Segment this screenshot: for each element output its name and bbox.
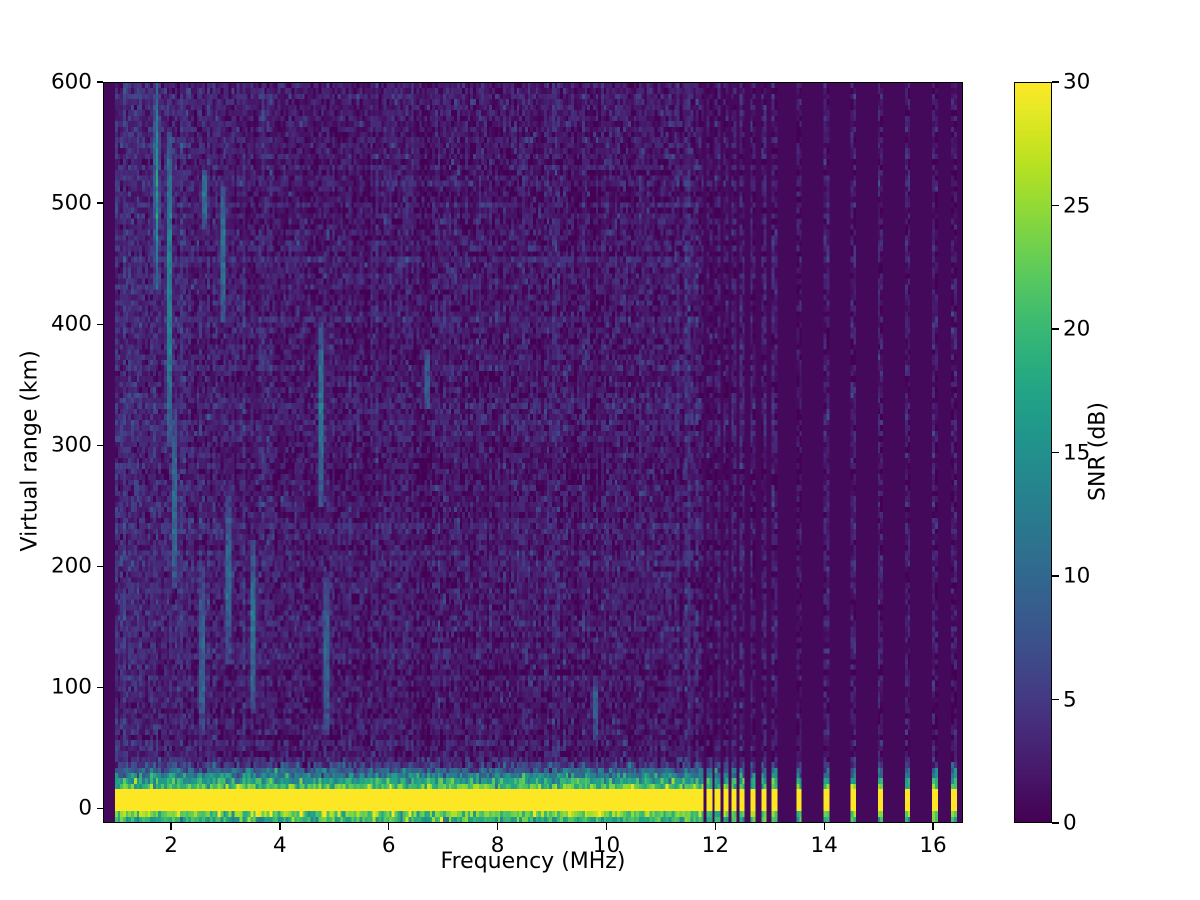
x-axis-label: Frequency (MHz) bbox=[103, 849, 963, 874]
colorbar-tick-label: 20 bbox=[1063, 317, 1133, 342]
colorbar-tick-mark bbox=[1052, 575, 1059, 576]
colorbar-tick-mark bbox=[1052, 328, 1059, 329]
x-tick-mark bbox=[388, 823, 389, 830]
y-tick-label: 400 bbox=[7, 312, 92, 337]
y-axis-label: Virtual range (km) bbox=[18, 351, 43, 551]
y-tick-mark bbox=[97, 445, 104, 446]
colorbar-tick-label: 5 bbox=[1063, 687, 1133, 712]
colorbar-tick-label: 25 bbox=[1063, 193, 1133, 218]
y-tick-mark bbox=[97, 808, 104, 809]
y-tick-mark bbox=[97, 202, 104, 203]
y-tick-label: 100 bbox=[7, 675, 92, 700]
y-tick-mark bbox=[97, 81, 104, 82]
x-tick-mark bbox=[497, 823, 498, 830]
colorbar-tick-label: 30 bbox=[1063, 70, 1133, 95]
colorbar-tick-label: 0 bbox=[1063, 811, 1133, 836]
colorbar-tick-mark bbox=[1052, 822, 1059, 823]
x-tick-mark bbox=[170, 823, 171, 830]
ionogram-axes[interactable] bbox=[103, 82, 963, 823]
snr-colorbar[interactable] bbox=[1014, 82, 1052, 823]
x-tick-mark bbox=[715, 823, 716, 830]
ionogram-figure: IRF Uppsala SDR Ionosonde UP158 2025-12-… bbox=[0, 0, 1200, 900]
y-tick-label: 0 bbox=[7, 796, 92, 821]
colorbar-tick-mark bbox=[1052, 205, 1059, 206]
colorbar-tick-mark bbox=[1052, 699, 1059, 700]
colorbar-tick-mark bbox=[1052, 452, 1059, 453]
y-tick-mark bbox=[97, 566, 104, 567]
y-tick-mark bbox=[97, 324, 104, 325]
y-tick-label: 600 bbox=[7, 70, 92, 95]
colorbar-tick-mark bbox=[1052, 81, 1059, 82]
x-tick-mark bbox=[824, 823, 825, 830]
y-tick-mark bbox=[97, 687, 104, 688]
x-tick-mark bbox=[279, 823, 280, 830]
x-tick-mark bbox=[606, 823, 607, 830]
colorbar-gradient bbox=[1015, 83, 1051, 822]
colorbar-label: SNR (dB) bbox=[1086, 351, 1111, 551]
y-tick-label: 500 bbox=[7, 191, 92, 216]
y-tick-label: 200 bbox=[7, 554, 92, 579]
x-tick-mark bbox=[932, 823, 933, 830]
colorbar-tick-label: 10 bbox=[1063, 564, 1133, 589]
ionogram-heatmap[interactable] bbox=[104, 83, 962, 822]
